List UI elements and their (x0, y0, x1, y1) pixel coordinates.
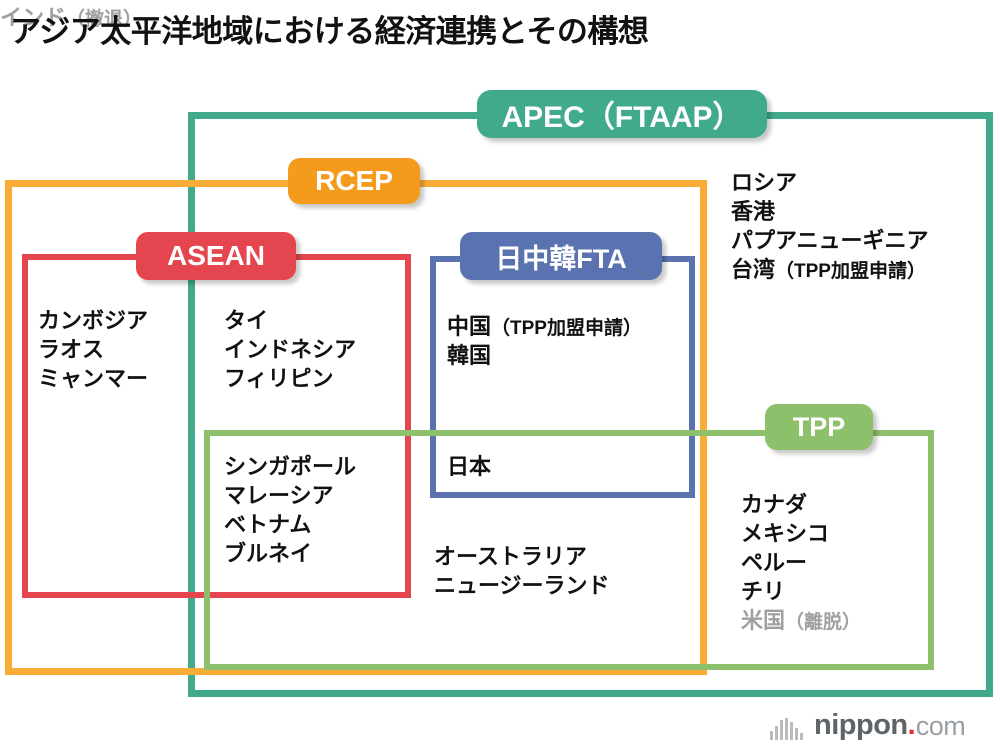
logo-wordmark: nippon (814, 711, 908, 740)
member-united-states-note: （離脱） (785, 612, 861, 633)
member-china: 中国 (447, 314, 491, 339)
member-china-note: （TPP加盟申請） (491, 318, 642, 339)
sound-bars-icon (770, 718, 805, 740)
members-tpp-americas: カナダ メキシコ ペルー チリ米国（離脱） (741, 490, 861, 635)
diagram-canvas: アジア太平洋地域における経済連携とその構想 APEC（FTAAP） RCEP A… (0, 0, 1000, 750)
members-australia-nz: オーストラリア ニュージーランド (434, 542, 610, 600)
member-russia: ロシア (731, 170, 797, 195)
label-asean: ASEAN (136, 232, 296, 280)
label-apec: APEC（FTAAP） (477, 90, 767, 138)
members-asean-only: カンボジア ラオス ミャンマー (38, 306, 148, 393)
members-asean-rcep-tpp: シンガポール マレーシア ベトナム ブルネイ (224, 452, 356, 568)
member-united-states: 米国 (741, 608, 785, 633)
logo-dot: . (908, 711, 916, 740)
nippon-com-logo: nippon . com (770, 708, 965, 740)
member-papua-new-guinea: パプアニューギニア (731, 228, 929, 253)
label-rcep: RCEP (288, 158, 420, 204)
member-taiwan-note: （TPP加盟申請） (775, 261, 926, 282)
page-title: アジア太平洋地域における経済連携とその構想 (10, 6, 648, 51)
members-apec-only: ロシア香港パプアニューギニア台湾（TPP加盟申請） (731, 168, 929, 284)
member-taiwan: 台湾 (731, 257, 775, 282)
member-japan: 日本 (447, 452, 491, 481)
member-korea: 韓国 (447, 343, 491, 368)
logo-tld: com (916, 713, 966, 740)
label-tpp: TPP (765, 404, 873, 450)
member-hongkong: 香港 (731, 199, 775, 224)
label-japan-china-korea-fta: 日中韓FTA (460, 232, 662, 280)
members-tpp-americas-list: カナダ メキシコ ペルー チリ (741, 492, 829, 604)
members-china-korea: 中国（TPP加盟申請）韓国 (447, 312, 642, 370)
members-asean-rcep: タイ インドネシア フィリピン (224, 306, 356, 393)
